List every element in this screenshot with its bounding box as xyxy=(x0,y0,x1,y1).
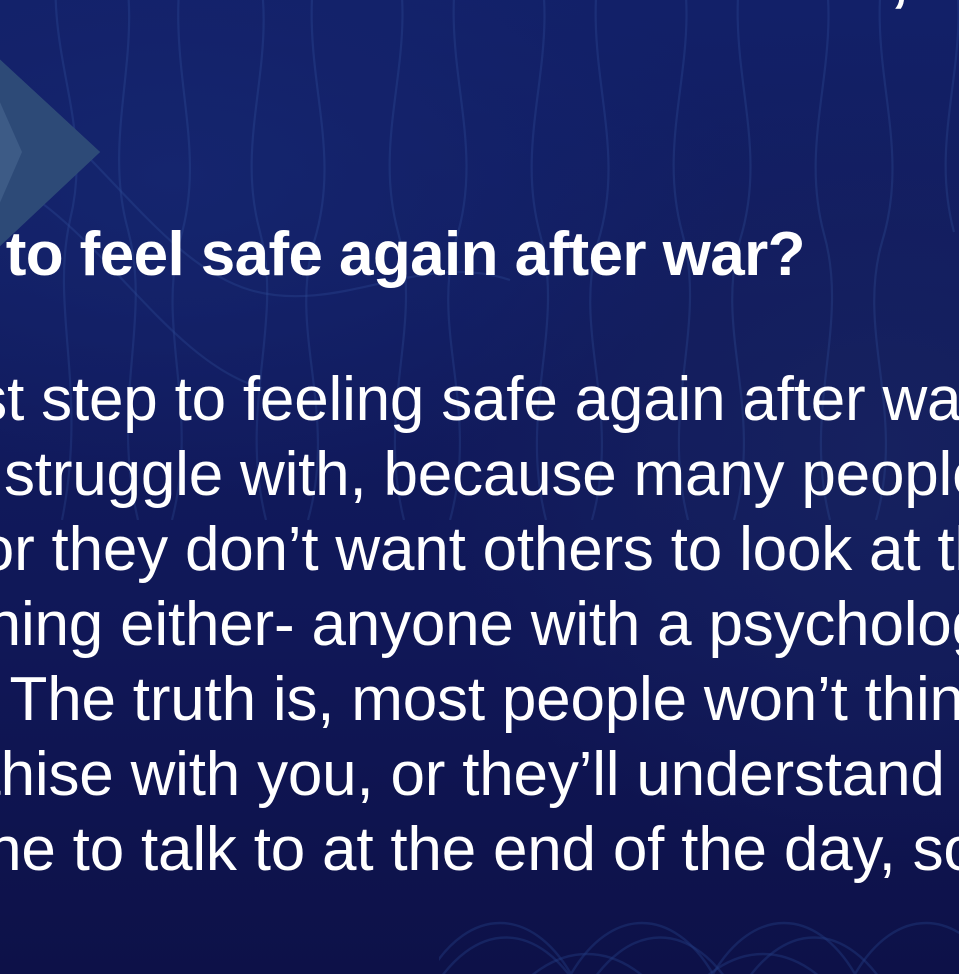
body-line: a war thing either- anyone with a psycho… xyxy=(0,587,959,662)
cut-off-top-line: we go and deal with our lives however, xyxy=(0,0,959,16)
body-line: hatred. The truth is, most people won’t … xyxy=(0,662,959,737)
body-paragraph: The first step to feeling safe again aft… xyxy=(0,362,959,887)
body-line: sympathise with you, or they’ll understa… xyxy=(0,737,959,812)
page-title: How to feel safe again after war? xyxy=(0,218,959,292)
body-line: someone to talk to at the end of the day… xyxy=(0,812,959,887)
body-line: The first step to feeling safe again aft… xyxy=(0,362,959,437)
presentation-slide: we go and deal with our lives however, H… xyxy=(0,0,959,974)
body-line: people struggle with, because many peopl… xyxy=(0,437,959,512)
slide-text-content: we go and deal with our lives however, H… xyxy=(0,0,959,974)
body-line: issue, or they don’t want others to look… xyxy=(0,512,959,587)
